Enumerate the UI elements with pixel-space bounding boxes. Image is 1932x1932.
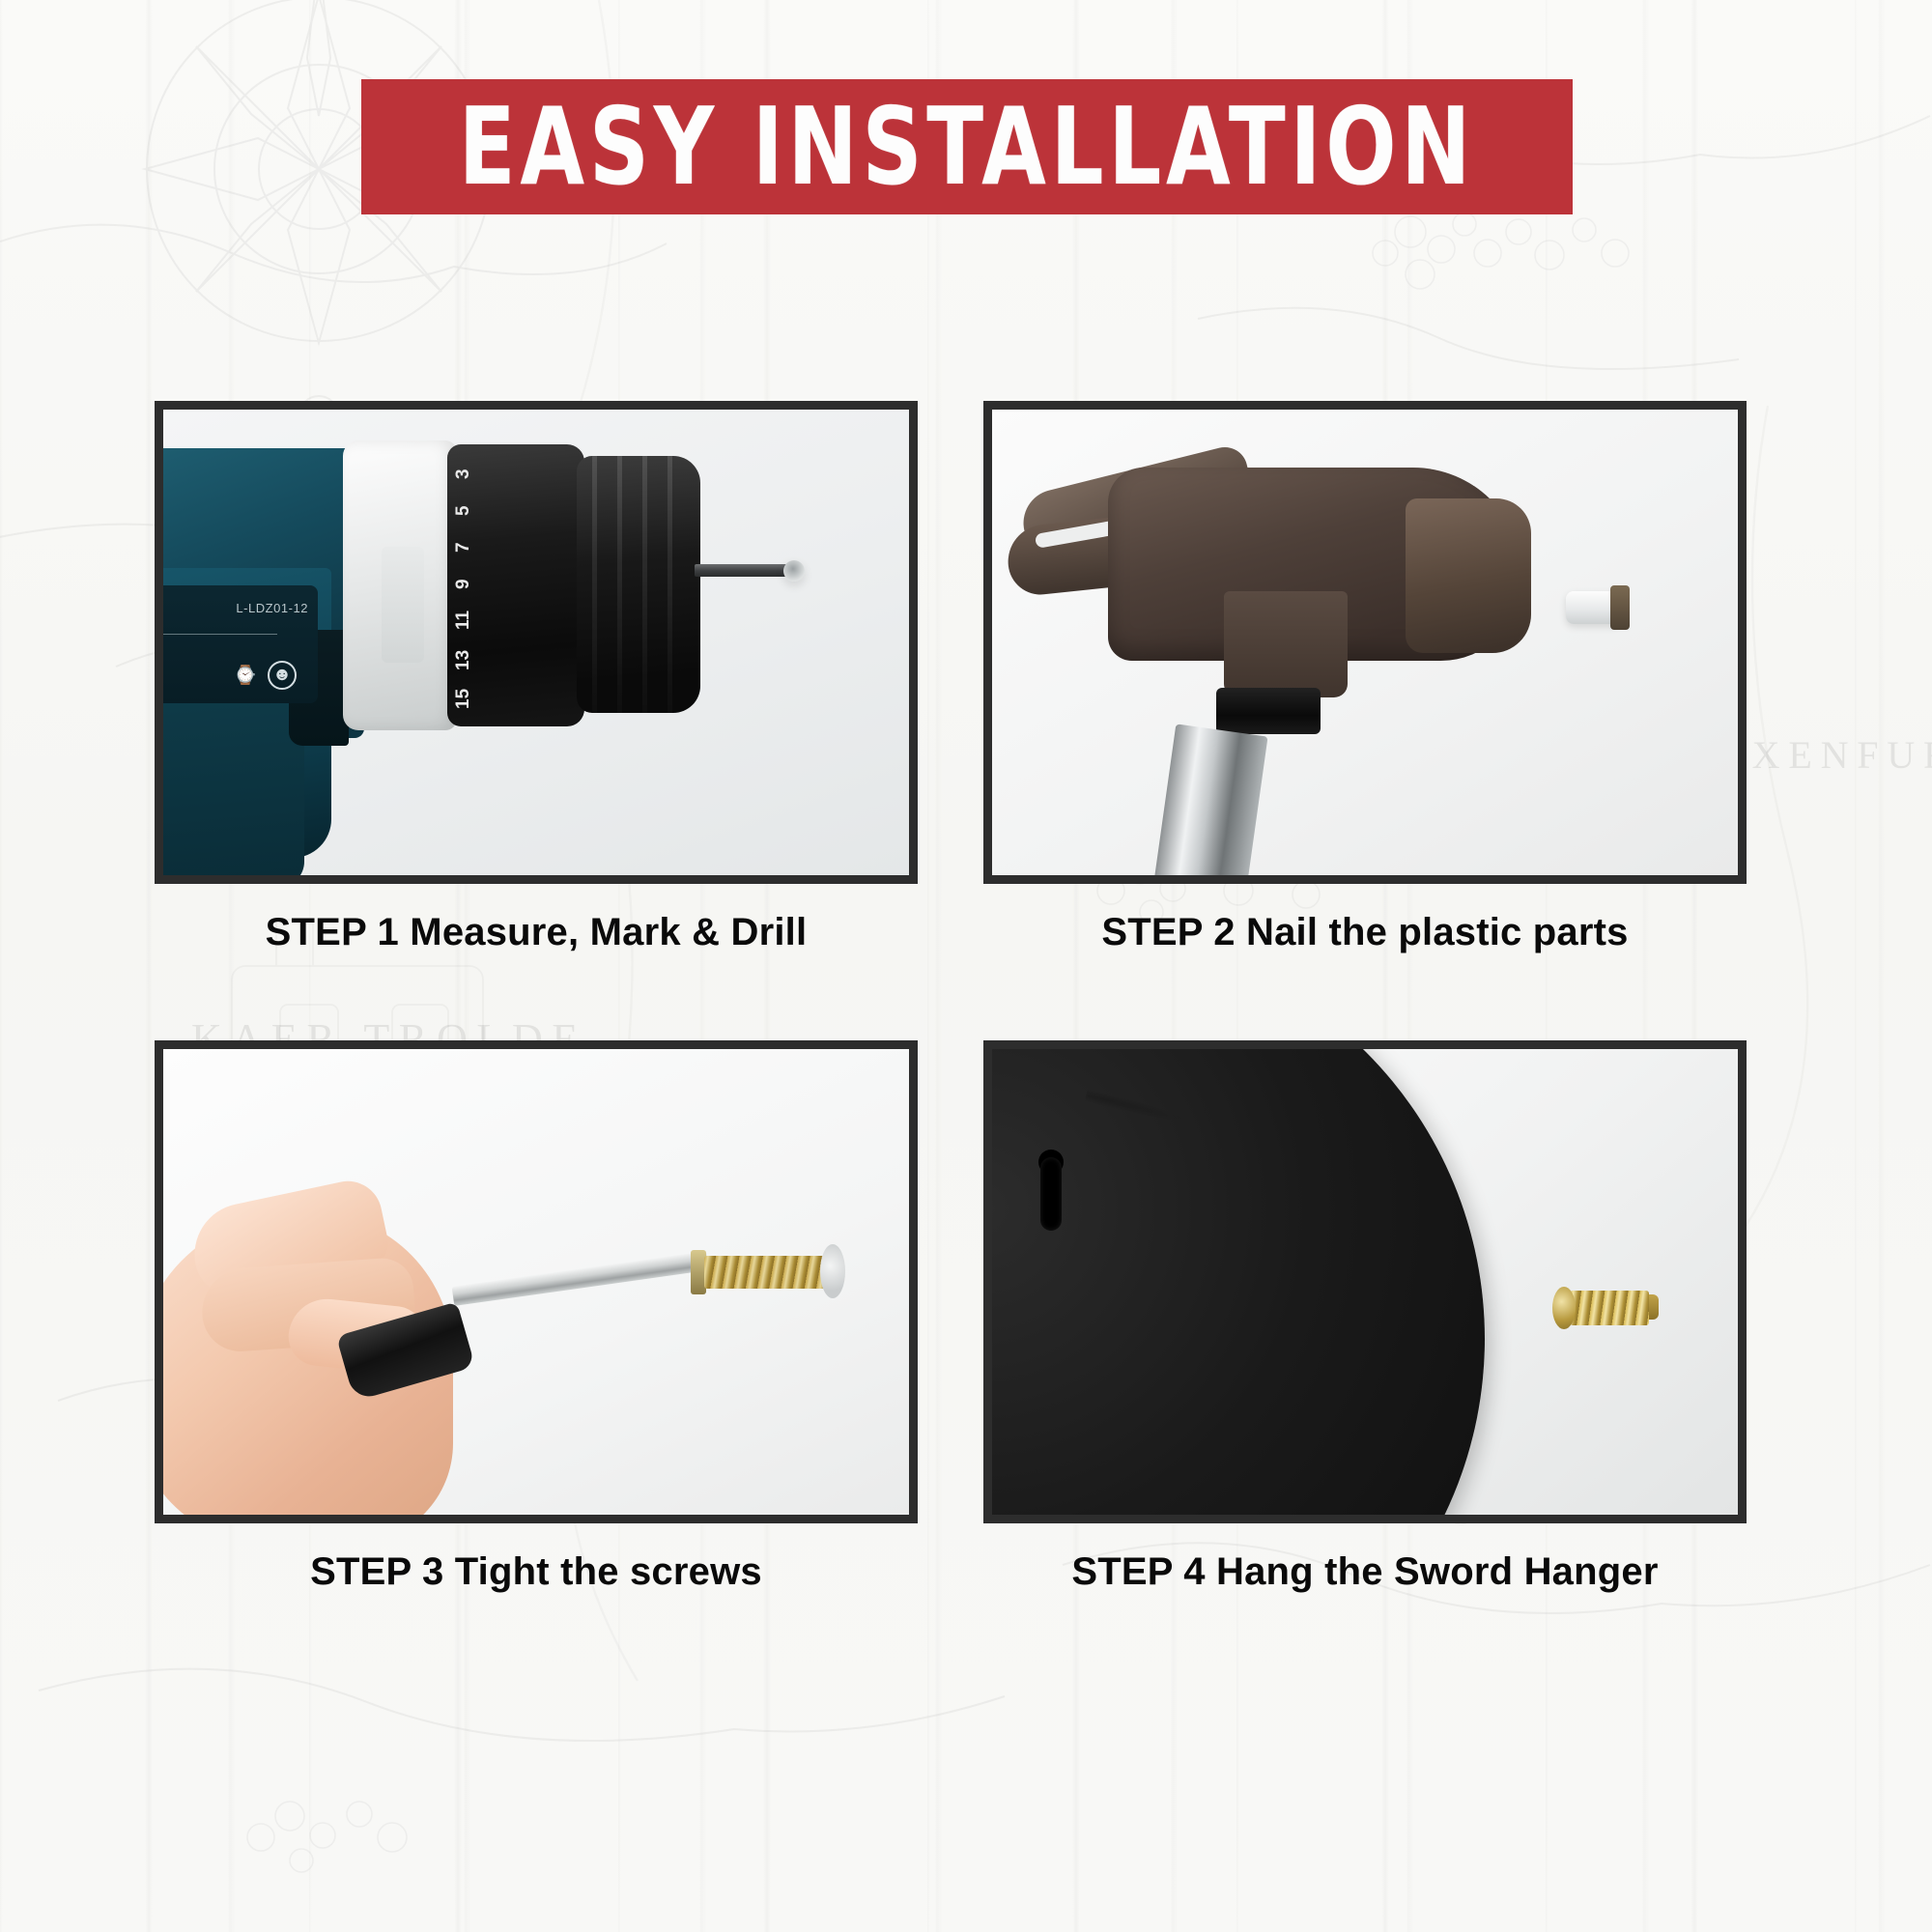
drilled-hole	[783, 560, 805, 582]
step-2-photo-frame	[983, 401, 1747, 884]
step-1-caption: STEP 1 Measure, Mark & Drill	[155, 911, 918, 954]
step-4-caption: STEP 4 Hang the Sword Hanger	[983, 1550, 1747, 1594]
title-banner: EASY INSTALLATION	[361, 79, 1573, 214]
banner-title: EASY INSTALLATION	[459, 94, 1475, 201]
sword-hanger-plate	[992, 1049, 1485, 1515]
step-4-image	[992, 1049, 1738, 1515]
hammer-face	[1406, 498, 1531, 653]
hammer-handle	[1151, 724, 1267, 875]
step-1-image: L-LDZ01-12 /min 10 ⌚ ☻ 3	[163, 410, 909, 875]
hourglass-icon: ⌚	[231, 661, 260, 690]
background-base	[0, 0, 1932, 1932]
step-4-photo-frame	[983, 1040, 1747, 1523]
drill-chuck	[577, 456, 700, 713]
infographic-page: KAER TROLDE OXENFURT EASY INSTALLATION	[0, 0, 1932, 1932]
step-3-image	[163, 1049, 909, 1515]
torque-number: 13	[453, 650, 474, 670]
drill-bit	[695, 564, 787, 577]
screw-thread	[704, 1256, 826, 1289]
drill-spec-label: L-LDZ01-12 /min 10 ⌚ ☻	[163, 585, 318, 703]
hammer-ferrule	[1216, 688, 1321, 734]
torque-number: 9	[453, 579, 474, 589]
screw-head	[820, 1244, 845, 1298]
step-3-photo-frame	[155, 1040, 918, 1523]
step-card-1: L-LDZ01-12 /min 10 ⌚ ☻ 3	[155, 401, 918, 954]
drill-torque-ring: 3 5 7 9 11 13 15	[447, 444, 584, 726]
mounted-screw-icon	[1552, 1277, 1659, 1335]
hammer-icon	[1002, 429, 1620, 875]
wall-anchor-icon	[1566, 585, 1634, 630]
step-card-2: STEP 2 Nail the plastic parts	[983, 401, 1747, 954]
torque-number: 11	[453, 611, 474, 630]
step-card-3: STEP 3 Tight the screws	[155, 1040, 918, 1594]
step-card-4: STEP 4 Hang the Sword Hanger	[983, 1040, 1747, 1594]
drill-model-text: L-LDZ01-12	[236, 601, 308, 615]
torque-number: 3	[453, 469, 474, 479]
step-3-caption: STEP 3 Tight the screws	[155, 1550, 918, 1594]
step-2-caption: STEP 2 Nail the plastic parts	[983, 911, 1747, 954]
torque-number: 7	[453, 542, 474, 553]
read-manual-icon: ☻	[268, 661, 297, 690]
torque-number: 15	[453, 689, 474, 709]
step-2-image	[992, 410, 1738, 875]
step-1-photo-frame: L-LDZ01-12 /min 10 ⌚ ☻ 3	[155, 401, 918, 884]
drill-icon: L-LDZ01-12 /min 10 ⌚ ☻ 3	[163, 423, 760, 875]
torque-number: 5	[453, 505, 474, 516]
